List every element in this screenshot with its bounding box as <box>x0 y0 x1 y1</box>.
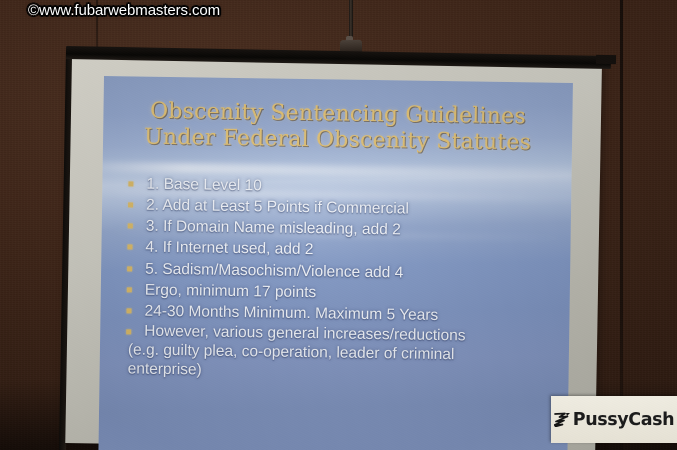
bullet-square-icon <box>128 181 133 186</box>
pussycash-logo-text: PussyCash <box>573 410 674 430</box>
list-item-label: 1. Base Level 10 <box>146 176 262 195</box>
bullet-square-icon <box>127 266 132 271</box>
projector-photo: Obscenity Sentencing Guidelines Under Fe… <box>0 0 677 450</box>
list-item-label: 24-30 Months Minimum. Maximum 5 Years <box>144 302 438 323</box>
list-item-label: 5. Sadism/Masochism/Violence add 4 <box>145 260 403 281</box>
bullet-square-icon <box>126 308 131 313</box>
bullet-square-icon <box>128 203 133 208</box>
pussycash-logo: PussyCash <box>551 396 677 443</box>
list-item: However, various general increases/reduc… <box>122 322 554 385</box>
bullet-square-icon <box>127 245 132 250</box>
list-item-label: 4. If Internet used, add 2 <box>145 239 313 258</box>
bullet-square-icon <box>127 287 132 292</box>
slide-title: Obscenity Sentencing Guidelines Under Fe… <box>103 98 573 156</box>
screen-bar-end-cap <box>596 55 616 64</box>
list-item-label: 2. Add at Least 5 Points if Commercial <box>146 197 409 218</box>
site-watermark: ©www.fubarwebmasters.com <box>28 2 220 19</box>
list-item-label: However, various general increases/reduc… <box>144 323 466 345</box>
bullet-square-icon <box>126 329 131 334</box>
bullet-square-icon <box>128 224 133 229</box>
list-item-label: Ergo, minimum 17 points <box>145 281 317 301</box>
slide-title-line-2: Under Federal Obscenity Statutes <box>117 124 558 156</box>
projected-slide: Obscenity Sentencing Guidelines Under Fe… <box>98 76 572 450</box>
list-item-label: 3. If Domain Name misleading, add 2 <box>146 218 401 239</box>
slide-bullet-list: 1. Base Level 10 2. Add at Least 5 Point… <box>121 174 555 386</box>
pussycash-swoosh-mark <box>554 412 571 427</box>
